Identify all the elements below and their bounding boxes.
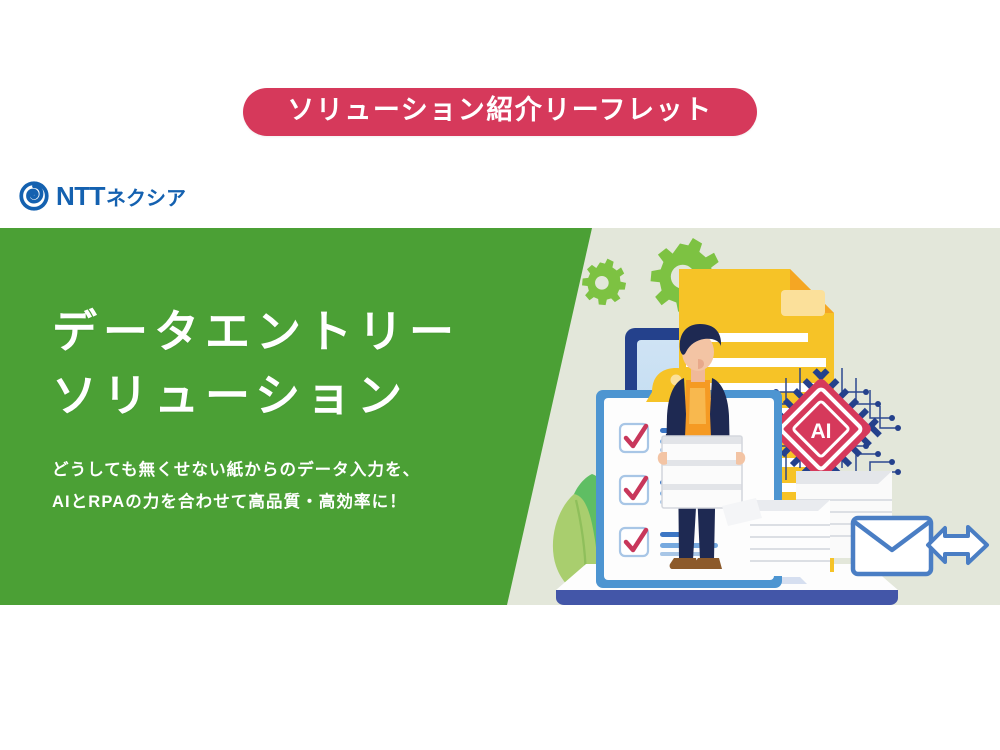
ntt-nexia-logo: NTT ネクシア xyxy=(19,181,186,211)
logo-wordmark: NTT ネクシア xyxy=(56,183,186,209)
envelope-with-arrow-icon xyxy=(853,518,987,574)
hero-title-line-2: ソリューション xyxy=(52,364,522,428)
ntt-logo-mark xyxy=(19,181,49,211)
leaflet-page: ソリューション紹介リーフレット NTT ネクシア データエントリー ソリューショ… xyxy=(0,0,1000,750)
banner-row: ソリューション紹介リーフレット xyxy=(0,88,1000,136)
hero-subtitle-line-1: どうしても無くせない紙からのデータ入力を、 xyxy=(52,454,522,486)
hero-title-line-1: データエントリー xyxy=(52,300,522,364)
illustration-canvas: AI xyxy=(500,228,1000,605)
hero-band: データエントリー ソリューション どうしても無くせない紙からのデータ入力を、 A… xyxy=(0,228,1000,605)
gear-icon-small-left xyxy=(582,259,626,306)
document-stack-held xyxy=(662,436,742,508)
hero-subtitle-line-2: AIとRPAの力を合わせて高品質・高効率に！ xyxy=(52,486,522,518)
hero-subtitle: どうしても無くせない紙からのデータ入力を、 AIとRPAの力を合わせて高品質・高… xyxy=(52,454,522,518)
logo-brand-text: NTT xyxy=(56,183,105,209)
leaflet-banner-pill: ソリューション紹介リーフレット xyxy=(243,88,756,136)
ai-chip-label: AI xyxy=(811,420,832,443)
data-entry-illustration: AI xyxy=(500,228,1000,605)
arrow-right-icon xyxy=(928,527,987,563)
logo-suffix-text: ネクシア xyxy=(106,189,186,209)
hero-text-block: データエントリー ソリューション どうしても無くせない紙からのデータ入力を、 A… xyxy=(52,300,522,518)
